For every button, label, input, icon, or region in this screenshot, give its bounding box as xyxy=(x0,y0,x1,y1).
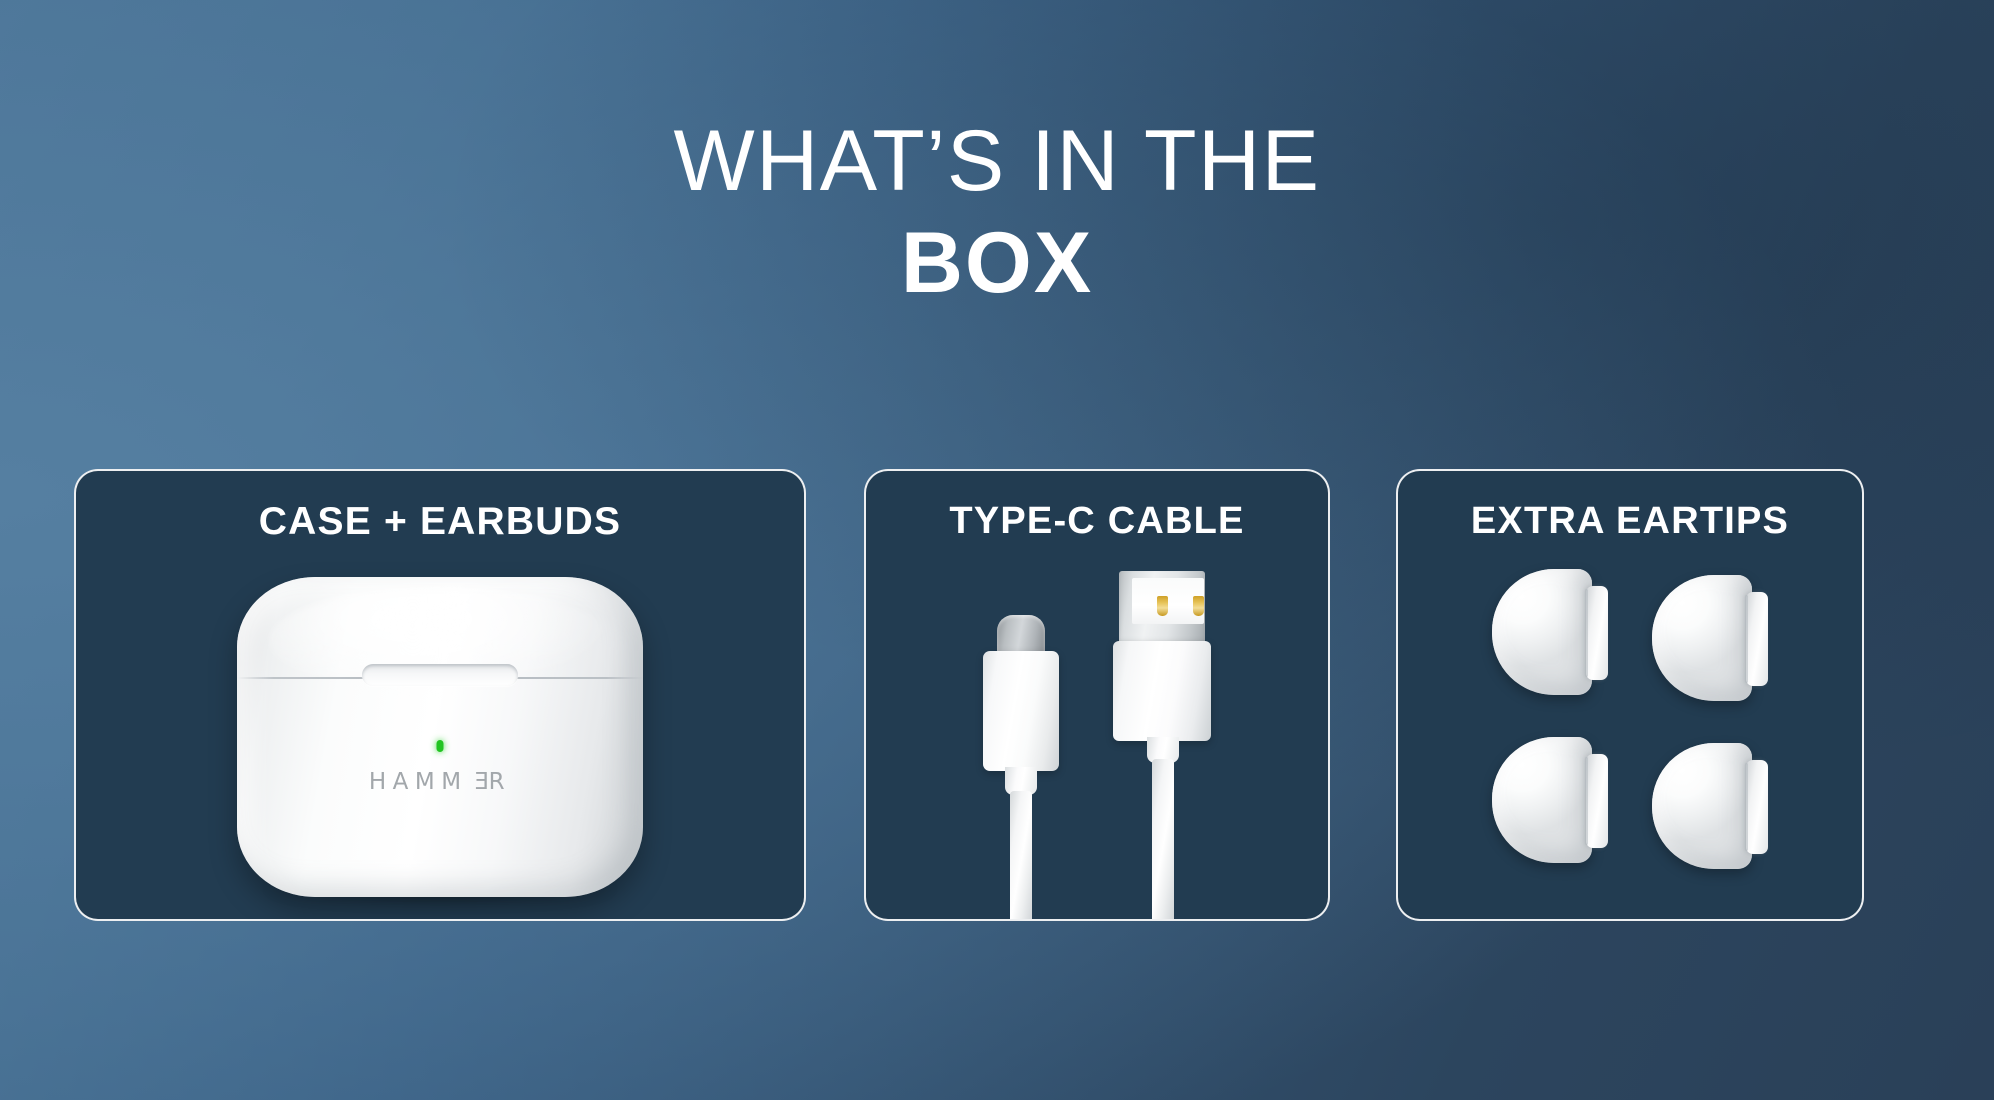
page-title-line-1: WHAT’S IN THE xyxy=(0,118,1994,204)
usb-a-contact-pin xyxy=(1157,596,1168,616)
eartip-seam xyxy=(1585,757,1588,845)
card-case-earbuds[interactable]: CASE + EARBUDS HAMMER xyxy=(74,469,806,921)
card-extra-eartips[interactable]: EXTRA EARTIPS xyxy=(1396,469,1864,921)
charging-status-led-icon xyxy=(437,740,444,752)
card-title-type-c-cable: TYPE-C CABLE xyxy=(866,500,1328,543)
promo-banner: WHAT’S IN THE BOX CASE + EARBUDS HAMMER xyxy=(0,0,1994,1100)
eartip-dome xyxy=(1652,575,1752,701)
eartip xyxy=(1492,737,1608,863)
usb-a-cord xyxy=(1152,759,1174,921)
charging-case-lid-groove xyxy=(362,664,518,686)
usb-a-contact-pin xyxy=(1193,596,1204,616)
brand-logo-text: HAMMER xyxy=(369,769,511,795)
usb-cable-graphic xyxy=(967,571,1227,921)
page-title-line-2: BOX xyxy=(0,220,1994,306)
usb-a-housing xyxy=(1113,641,1211,741)
eartip-seam xyxy=(1745,595,1748,683)
eartip-collar xyxy=(1586,754,1608,848)
eartip xyxy=(1652,743,1768,869)
usb-a-inner-block xyxy=(1132,578,1204,624)
charging-case-body: HAMMER xyxy=(237,577,643,897)
usb-a-metal-shell xyxy=(1119,571,1205,647)
usb-c-housing xyxy=(983,651,1059,771)
charging-case-graphic: HAMMER xyxy=(237,577,643,897)
card-title-case-earbuds: CASE + EARBUDS xyxy=(76,500,804,544)
eartip xyxy=(1492,569,1608,695)
card-title-extra-eartips: EXTRA EARTIPS xyxy=(1398,500,1862,543)
eartip xyxy=(1652,575,1768,701)
eartip-dome xyxy=(1492,737,1592,863)
usb-c-cord xyxy=(1010,791,1032,921)
eartip-seam xyxy=(1745,763,1748,851)
eartip-dome xyxy=(1492,569,1592,695)
eartip-collar xyxy=(1746,760,1768,854)
usb-c-connector xyxy=(983,615,1059,921)
page-title: WHAT’S IN THE BOX xyxy=(0,118,1994,306)
eartip-collar xyxy=(1746,592,1768,686)
usb-a-connector xyxy=(1113,571,1211,921)
eartip-dome xyxy=(1652,743,1752,869)
eartip-seam xyxy=(1585,589,1588,677)
card-row: CASE + EARBUDS HAMMER xyxy=(0,469,1994,921)
eartip-collar xyxy=(1586,586,1608,680)
brand-logo: HAMMER xyxy=(237,769,643,795)
card-type-c-cable[interactable]: TYPE-C CABLE xyxy=(864,469,1330,921)
eartips-graphic xyxy=(1492,569,1768,869)
